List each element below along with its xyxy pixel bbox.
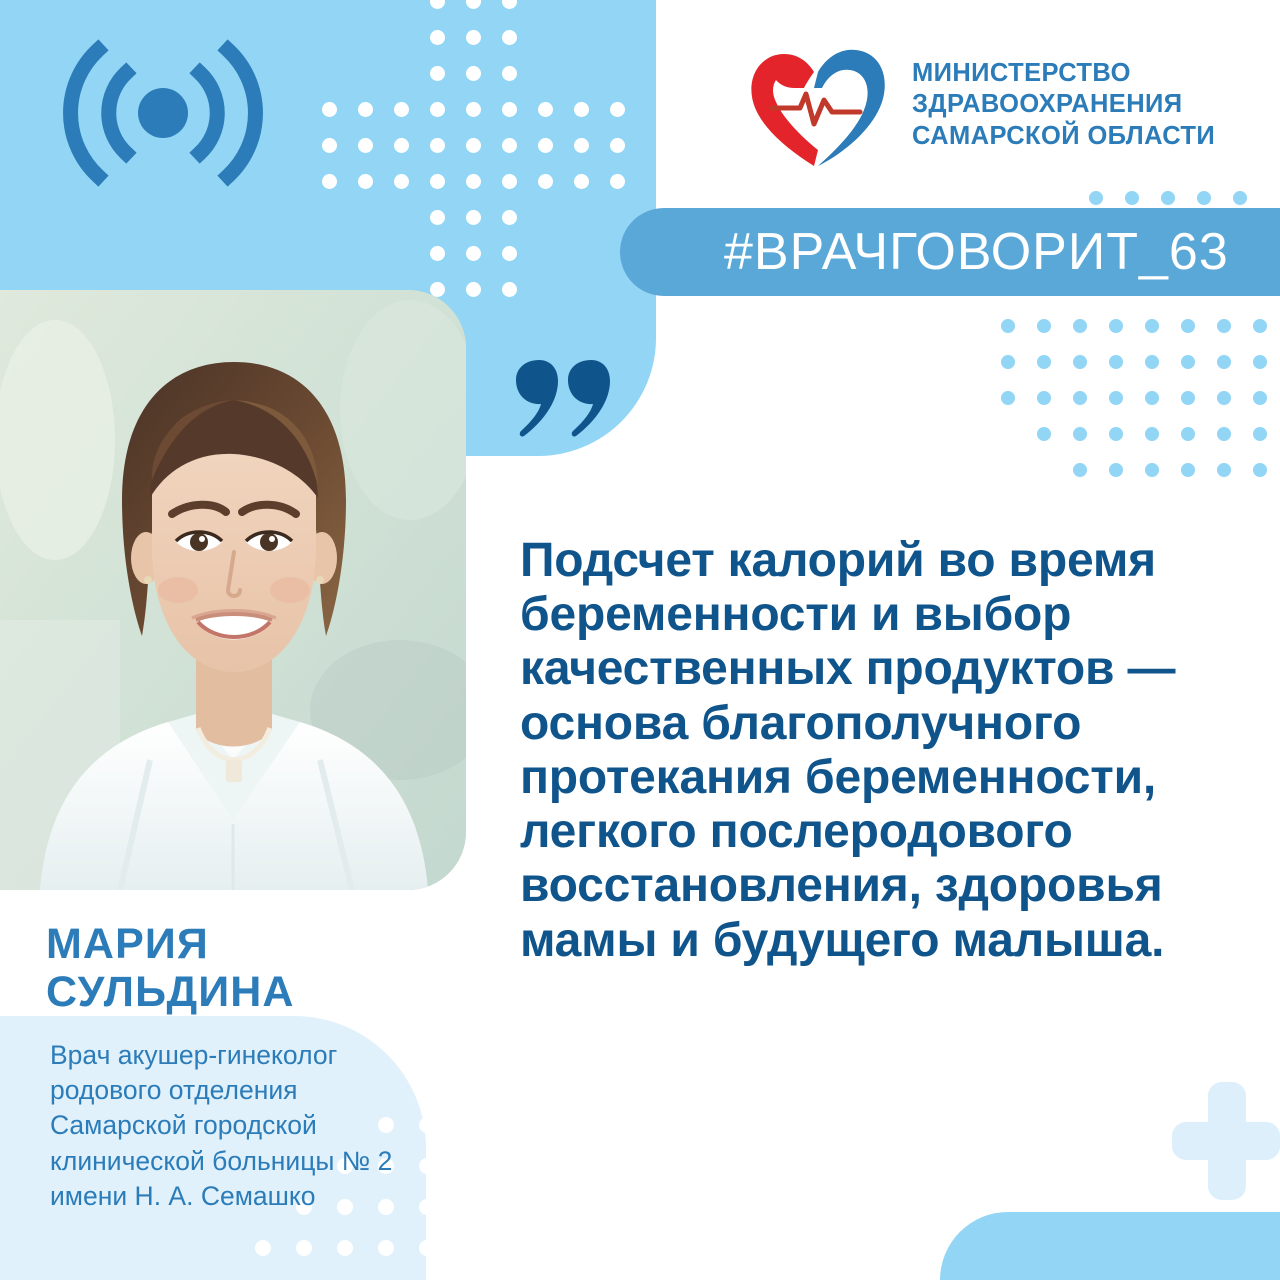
decorative-dot [574, 282, 589, 297]
decorative-dot [502, 0, 517, 9]
decorative-dot [394, 102, 409, 117]
medical-cross-icon [1172, 1082, 1280, 1200]
heart-pulse-logo-icon [742, 42, 890, 168]
decorative-dot [1001, 319, 1015, 333]
decorative-dot [378, 1240, 394, 1256]
decorative-dot [1217, 319, 1231, 333]
decorative-dot [1125, 191, 1139, 205]
decorative-dot [466, 210, 481, 225]
decorative-dot [430, 0, 445, 9]
decorative-dot [296, 1240, 312, 1256]
decorative-dot [610, 102, 625, 117]
decorative-dot [1217, 391, 1231, 405]
decorative-dot [1253, 391, 1267, 405]
decorative-dot [610, 30, 625, 45]
doctor-name: МАРИЯ СУЛЬДИНА [46, 920, 295, 1016]
decorative-dot [1073, 355, 1087, 369]
decorative-dot [1001, 463, 1015, 477]
decorative-dot [322, 102, 337, 117]
decorative-dot [337, 1240, 353, 1256]
decorative-dot [358, 210, 373, 225]
decorative-dot [322, 246, 337, 261]
decorative-dot [1197, 191, 1211, 205]
decorative-dot [1001, 355, 1015, 369]
ministry-logo-text: МИНИСТЕРСТВО ЗДРАВООХРАНЕНИЯ САМАРСКОЙ О… [912, 58, 1215, 151]
decorative-dot [1145, 391, 1159, 405]
decorative-dot [394, 66, 409, 81]
decorative-dot [394, 138, 409, 153]
decorative-dot [574, 0, 589, 9]
decorative-dot [574, 174, 589, 189]
decorative-dot [538, 138, 553, 153]
decorative-dot [394, 210, 409, 225]
decorative-dot [1001, 427, 1015, 441]
decorative-dot [1037, 427, 1051, 441]
decorative-dot [1181, 391, 1195, 405]
decorative-dot [358, 174, 373, 189]
decorative-dot [322, 174, 337, 189]
decorative-dot [322, 30, 337, 45]
decorative-dot [1037, 355, 1051, 369]
doctor-portrait-photo [0, 290, 466, 890]
decorative-dot [1145, 427, 1159, 441]
decorative-dot [1073, 427, 1087, 441]
decorative-dot [466, 282, 481, 297]
decorative-dot [322, 0, 337, 9]
decorative-dot [430, 246, 445, 261]
decorative-dot [466, 0, 481, 9]
decorative-dot [1181, 355, 1195, 369]
decorative-dot [574, 210, 589, 225]
decorative-dot [538, 246, 553, 261]
decorative-dot [430, 210, 445, 225]
decorative-dot [1073, 463, 1087, 477]
decorative-dot [255, 1240, 271, 1256]
quotation-mark-icon [512, 360, 612, 438]
decorative-dot [1217, 427, 1231, 441]
decorative-dot [430, 102, 445, 117]
decorative-dot [358, 66, 373, 81]
decorative-dot [1253, 427, 1267, 441]
decorative-dot [1217, 355, 1231, 369]
decorative-dot [466, 174, 481, 189]
decorative-dot [1109, 391, 1123, 405]
decorative-dot [502, 174, 517, 189]
decorative-dot [574, 246, 589, 261]
decorative-dot [502, 66, 517, 81]
decorative-dot [430, 30, 445, 45]
decorative-dot [1145, 355, 1159, 369]
poster-canvas: МИНИСТЕРСТВО ЗДРАВООХРАНЕНИЯ САМАРСКОЙ О… [0, 0, 1280, 1280]
decorative-dot [1109, 319, 1123, 333]
decorative-dot [1109, 355, 1123, 369]
decorative-dot-grid-top [312, 0, 636, 308]
doctor-credentials: Врач акушер-гинеколог родового отделения… [50, 1038, 440, 1214]
decorative-dot [430, 174, 445, 189]
decorative-dot [419, 1240, 435, 1256]
decorative-dot [1089, 191, 1103, 205]
decorative-dot [394, 246, 409, 261]
decorative-dot [1253, 319, 1267, 333]
decorative-dot [1181, 427, 1195, 441]
decorative-dot [538, 30, 553, 45]
decorative-dot [502, 210, 517, 225]
decorative-dot [538, 66, 553, 81]
decorative-dot [574, 138, 589, 153]
decorative-dot [502, 102, 517, 117]
decorative-dot [1037, 391, 1051, 405]
decorative-dot [1001, 391, 1015, 405]
decorative-dot [466, 102, 481, 117]
decorative-dot [1181, 319, 1195, 333]
decorative-dot [610, 0, 625, 9]
decorative-dot [466, 246, 481, 261]
decorative-dot [1217, 463, 1231, 477]
decorative-dot [1253, 463, 1267, 477]
decorative-dot [466, 66, 481, 81]
decorative-dot [394, 174, 409, 189]
ministry-logo: МИНИСТЕРСТВО ЗДРАВООХРАНЕНИЯ САМАРСКОЙ О… [742, 42, 1215, 168]
decorative-dot [358, 246, 373, 261]
hashtag-banner: #ВРАЧГОВОРИТ_63 [620, 208, 1280, 296]
decorative-dot [502, 138, 517, 153]
decorative-dot [1109, 427, 1123, 441]
decorative-dot [322, 210, 337, 225]
decorative-dot [538, 0, 553, 9]
decorative-dot [1161, 191, 1175, 205]
decorative-dot [322, 138, 337, 153]
broadcast-signal-icon [58, 38, 268, 188]
decorative-dot [538, 282, 553, 297]
decorative-dot [1073, 391, 1087, 405]
decorative-dot [538, 102, 553, 117]
decorative-dot [466, 30, 481, 45]
decorative-dot [1233, 191, 1247, 205]
decorative-dot [538, 210, 553, 225]
decorative-dot [358, 30, 373, 45]
decorative-dot [1109, 463, 1123, 477]
decorative-dot [1145, 319, 1159, 333]
decorative-dot [1253, 355, 1267, 369]
quote-text: Подсчет калорий во время беременности и … [520, 534, 1260, 968]
bottom-right-corner-shape [940, 1212, 1280, 1280]
decorative-dot [358, 0, 373, 9]
decorative-dot [1073, 319, 1087, 333]
decorative-dot [1037, 463, 1051, 477]
decorative-dot [538, 174, 553, 189]
decorative-dot [466, 138, 481, 153]
decorative-dot [322, 66, 337, 81]
decorative-dot [394, 30, 409, 45]
decorative-dot [502, 30, 517, 45]
decorative-dot [430, 138, 445, 153]
decorative-dot [574, 66, 589, 81]
decorative-dot [574, 30, 589, 45]
decorative-dot [430, 66, 445, 81]
decorative-dot [1145, 463, 1159, 477]
decorative-dot-grid-right-middle [990, 308, 1278, 488]
decorative-dot [358, 138, 373, 153]
hashtag-label: #ВРАЧГОВОРИТ_63 [724, 222, 1229, 282]
decorative-dot [358, 102, 373, 117]
cross-horizontal-bar [1172, 1122, 1280, 1160]
decorative-dot [574, 102, 589, 117]
decorative-dot [610, 138, 625, 153]
decorative-dot [610, 174, 625, 189]
decorative-dot [502, 246, 517, 261]
decorative-dot [610, 66, 625, 81]
decorative-dot [502, 282, 517, 297]
decorative-dot [1037, 319, 1051, 333]
decorative-dot [610, 282, 625, 297]
decorative-dot [394, 0, 409, 9]
decorative-dot [610, 210, 625, 225]
decorative-dot [1181, 463, 1195, 477]
